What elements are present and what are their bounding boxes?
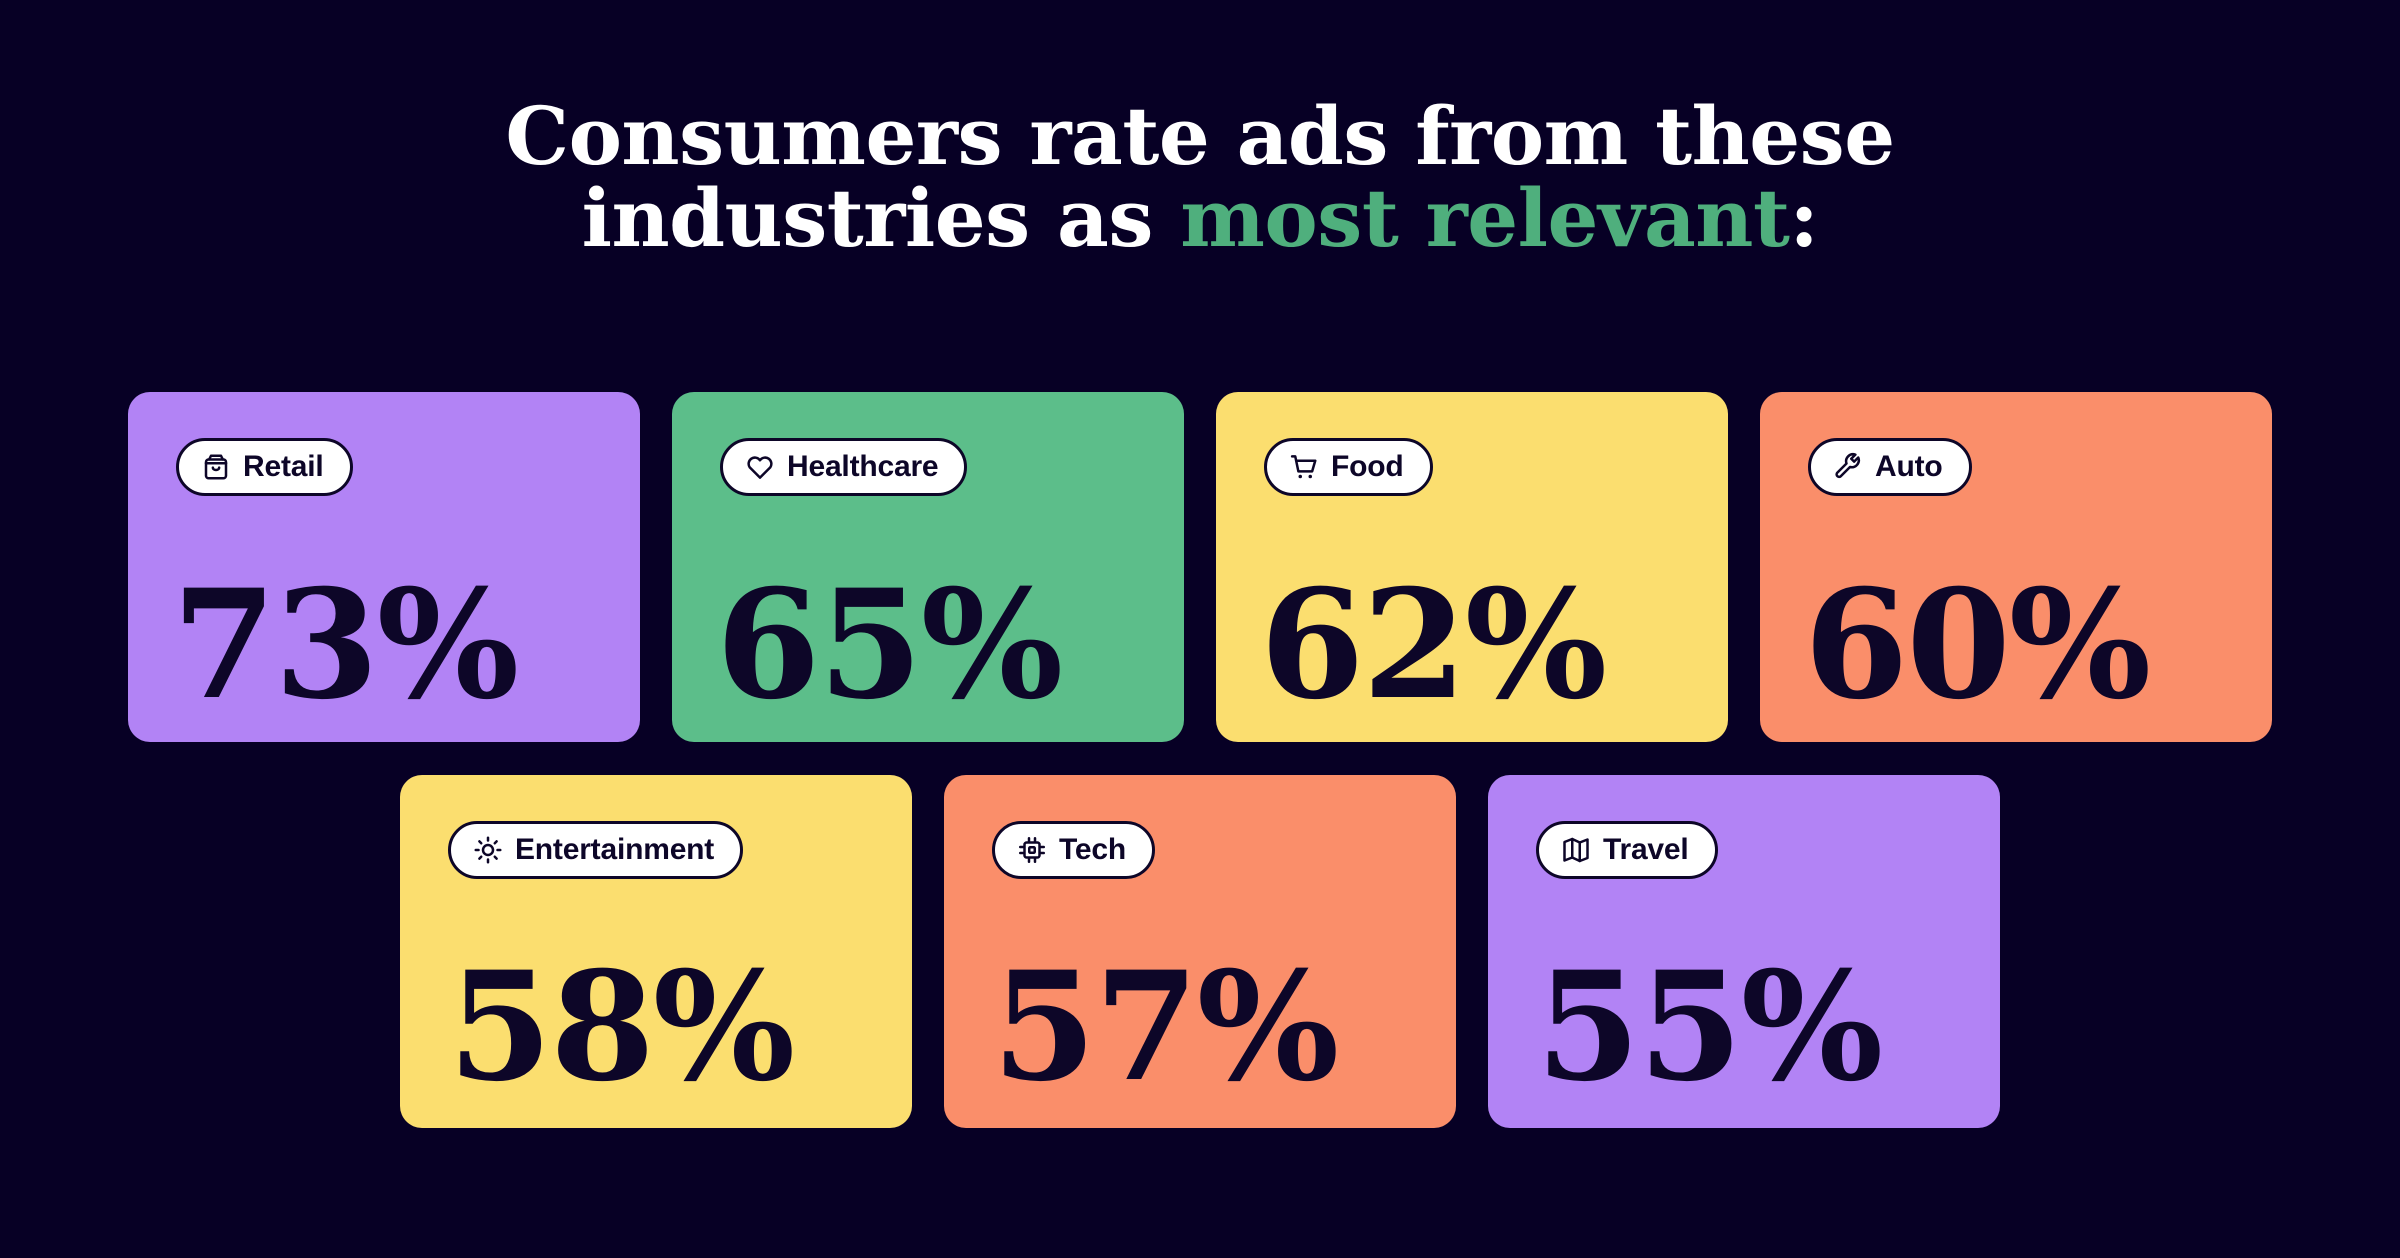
- badge-label-entertainment: Entertainment: [515, 835, 714, 865]
- shopping-bag-icon: [201, 452, 231, 482]
- stat-value-travel: 55%: [1536, 952, 1881, 1102]
- stat-card-healthcare[interactable]: Healthcare 65%: [672, 392, 1184, 742]
- stat-card-row-2: Entertainment 58%: [400, 775, 2000, 1128]
- badge-label-retail: Retail: [243, 452, 324, 482]
- stat-card-entertainment[interactable]: Entertainment 58%: [400, 775, 912, 1128]
- stat-card-retail[interactable]: Retail 73%: [128, 392, 640, 742]
- stat-value-auto: 60%: [1804, 570, 2149, 720]
- stat-card-travel[interactable]: Travel 55%: [1488, 775, 2000, 1128]
- badge-tech[interactable]: Tech: [992, 821, 1155, 879]
- stat-card-row-1: Retail 73% Healthcare 65%: [128, 392, 2272, 742]
- stat-value-entertainment: 58%: [448, 952, 793, 1102]
- badge-healthcare[interactable]: Healthcare: [720, 438, 967, 496]
- badge-entertainment[interactable]: Entertainment: [448, 821, 743, 879]
- title-colon: :: [1789, 171, 1818, 265]
- badge-label-food: Food: [1331, 452, 1404, 482]
- badge-label-auto: Auto: [1875, 452, 1943, 482]
- stat-value-food: 62%: [1260, 570, 1605, 720]
- infographic-canvas: Consumers rate ads from these industries…: [0, 0, 2400, 1258]
- stat-value-tech: 57%: [992, 952, 1337, 1102]
- title-line-2-prefix: industries as: [582, 171, 1181, 265]
- stat-card-food[interactable]: Food 62%: [1216, 392, 1728, 742]
- cpu-chip-icon: [1017, 835, 1047, 865]
- badge-auto[interactable]: Auto: [1808, 438, 1972, 496]
- title-highlight: most relevant: [1180, 171, 1789, 265]
- stat-value-healthcare: 65%: [716, 570, 1061, 720]
- heart-icon: [745, 452, 775, 482]
- stat-card-tech[interactable]: Tech 57%: [944, 775, 1456, 1128]
- sun-icon: [473, 835, 503, 865]
- stat-card-auto[interactable]: Auto 60%: [1760, 392, 2272, 742]
- stat-value-retail: 73%: [172, 570, 517, 720]
- badge-retail[interactable]: Retail: [176, 438, 353, 496]
- shopping-cart-icon: [1289, 452, 1319, 482]
- wrench-icon: [1833, 452, 1863, 482]
- title-line-1: Consumers rate ads from these: [0, 96, 2400, 178]
- badge-label-tech: Tech: [1059, 835, 1126, 865]
- badge-label-healthcare: Healthcare: [787, 452, 938, 482]
- map-icon: [1561, 835, 1591, 865]
- page-title: Consumers rate ads from these industries…: [0, 96, 2400, 259]
- badge-label-travel: Travel: [1603, 835, 1689, 865]
- badge-food[interactable]: Food: [1264, 438, 1433, 496]
- badge-travel[interactable]: Travel: [1536, 821, 1718, 879]
- title-line-2: industries as most relevant:: [0, 178, 2400, 260]
